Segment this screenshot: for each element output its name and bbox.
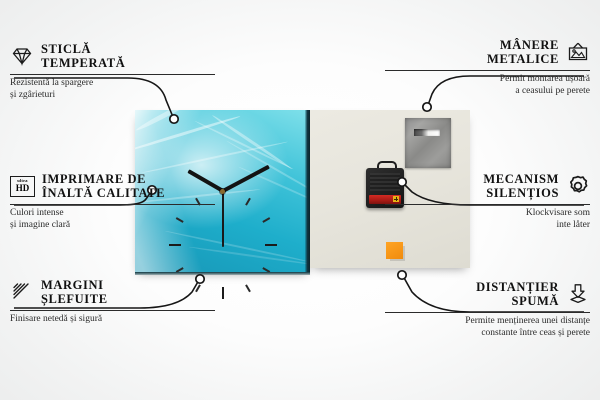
diamond-icon: [10, 44, 34, 68]
feature-desc-line2: a ceasului pe perete: [385, 86, 590, 98]
leader-endpoint-distantier: [398, 271, 406, 279]
feature-imprimare-hd: ultra HD IMPRIMARE DE ÎNALTĂ CALITATE Cu…: [10, 172, 215, 231]
feature-title-line1: MARGINI: [41, 278, 108, 292]
ultra-hd-icon: ultra HD: [10, 176, 35, 197]
feature-title-line1: MECANISM: [483, 172, 559, 186]
glass-bottom-edge: [135, 272, 310, 275]
feature-title-line1: STICLĂ: [41, 42, 125, 56]
foam-spacer-arrow-icon: [566, 282, 590, 306]
picture-hanger-icon: [566, 40, 590, 64]
clock-center-cap: [220, 189, 225, 194]
feature-title-line2: ȘLEFUITE: [41, 292, 108, 306]
feature-desc-line1: Klockvisare som: [385, 208, 590, 220]
feature-manere-metalice: MÂNERE METALICE Permit montarea ușoară a…: [385, 38, 590, 97]
feature-title-line2: METALICE: [487, 52, 559, 66]
feature-desc-line2: și zgârieturi: [10, 90, 215, 102]
feature-desc-line2: constante între ceas și perete: [385, 328, 590, 340]
feature-title-line1: DISTANȚIER: [476, 280, 559, 294]
feature-title-line2: SILENȚIOS: [483, 186, 559, 200]
infographic-canvas: STICLĂ TEMPERATĂ Rezistentă la spargere …: [0, 0, 600, 400]
ultra-hd-icon-large-text: HD: [16, 184, 30, 193]
feature-desc-line1: Finisare netedă și sigură: [10, 314, 215, 326]
feature-divider: [385, 204, 590, 205]
feature-mecanism-silentios: MECANISM SILENȚIOS Klockvisare som inte …: [385, 172, 590, 231]
feature-title-line1: IMPRIMARE DE: [42, 172, 165, 186]
feature-divider: [10, 310, 215, 311]
feature-desc-line1: Rezistentă la spargere: [10, 78, 215, 90]
feature-divider: [10, 74, 215, 75]
gear-icon: [566, 174, 590, 198]
feature-sticla-temperata: STICLĂ TEMPERATĂ Rezistentă la spargere …: [10, 42, 215, 101]
feature-desc-line2: și imagine clară: [10, 220, 215, 232]
feature-title-line2: SPUMĂ: [476, 294, 559, 308]
feature-title-line2: ÎNALTĂ CALITATE: [42, 186, 165, 200]
foam-spacer: [386, 242, 403, 259]
feature-distantier-spuma: DISTANȚIER SPUMĂ Permite menținerea unei…: [385, 280, 590, 339]
feature-margini-slefuite: MARGINI ȘLEFUITE Finisare netedă și sigu…: [10, 278, 215, 326]
feature-title-line1: MÂNERE: [487, 38, 559, 52]
feature-title-line2: TEMPERATĂ: [41, 56, 125, 70]
feature-desc-line1: Culori intense: [10, 208, 215, 220]
feature-divider: [385, 312, 590, 313]
hanger-slot: [414, 129, 440, 136]
feature-desc-line1: Permite menținerea unei distanțe: [385, 316, 590, 328]
feature-desc-line1: Permit montarea ușoară: [385, 74, 590, 86]
feature-divider: [10, 204, 215, 205]
feature-desc-line2: inte låter: [385, 220, 590, 232]
feature-divider: [385, 70, 590, 71]
metal-hanger-plate: [405, 118, 451, 168]
polished-edges-icon: [10, 280, 34, 304]
